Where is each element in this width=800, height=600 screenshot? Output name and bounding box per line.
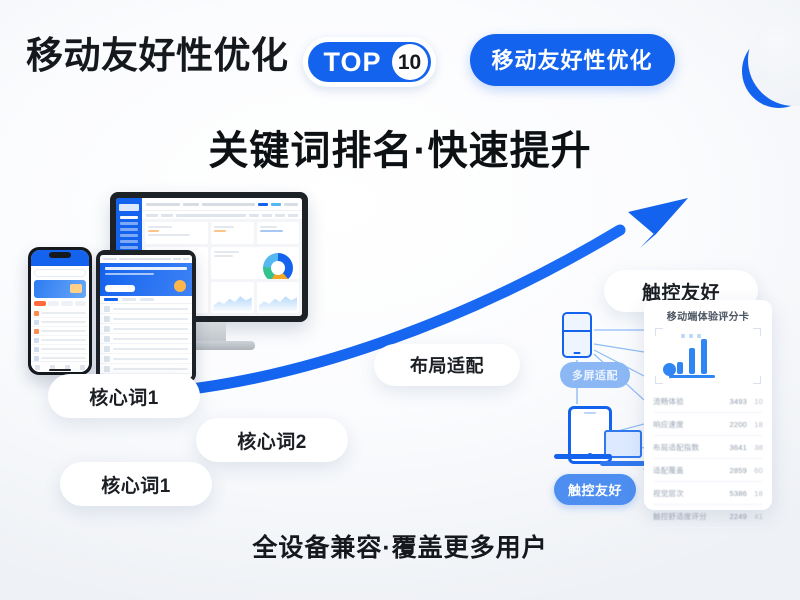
dashboard-nav-item [120,228,138,231]
phone-banner [34,280,86,298]
keyword-pill-2: 核心词2 [196,418,348,462]
list-item [100,304,192,314]
score-row-value: 2859 [721,466,747,475]
keyword-pill-3: 核心词1 [60,462,212,506]
score-row: 视觉层次538618 [653,482,763,505]
keyword-pill-1: 核心词1 [48,374,200,418]
tablet-statusbar [100,255,192,263]
score-row-value: 3641 [721,443,747,452]
score-row-name: 布局适配指数 [653,442,721,453]
dashboard-card [211,222,253,244]
score-card-title: 移动端体验评分卡 [653,308,763,323]
score-row-delta: 60 [747,466,763,475]
search-input[interactable] [34,269,86,277]
location-pin-icon [663,363,676,376]
tablet-screen [100,255,192,378]
score-row-value: 5386 [721,489,747,498]
tablet-hero-banner [100,263,192,296]
layout-adaptation-pill: 布局适配 [374,344,520,386]
top-badge-inner: TOP 10 [308,42,431,82]
phone-filter-chips[interactable] [31,301,89,309]
device-diagram-panel: 多屏适配 触控友好 移动端体验评分卡 流畅体验349310响应速度220018布… [548,300,772,516]
list-item [100,314,192,324]
bottom-caption: 全设备兼容·覆盖更多用户 [0,528,800,564]
score-row-value: 3493 [721,397,747,406]
poster-canvas: 移动友好性优化 TOP 10 移动友好性优化 关键词排名·快速提升 [0,0,800,600]
score-row-delta: 38 [747,443,763,452]
list-item [31,336,89,345]
page-subtitle: 关键词排名·快速提升 [0,118,800,176]
dashboard-nav-item [120,222,138,225]
score-row: 适配覆盖285960 [653,459,763,482]
phone-mockup [28,247,92,375]
phone-screen [31,250,89,372]
list-item [100,344,192,354]
phone-bezel [28,247,92,375]
list-item [31,327,89,336]
dashboard-logo [119,204,139,211]
score-row-delta: 18 [747,420,763,429]
dashboard-card [145,222,208,244]
list-item [31,309,89,318]
donut-chart-icon [263,253,293,279]
dashboard-nav-item [120,234,138,237]
tablet-tabbar [100,296,192,304]
tablet-cta-button [105,285,135,292]
phone-dynamic-island [49,252,71,258]
dashboard-card [257,222,299,244]
device-mockup-group [28,192,338,382]
score-row-name: 适配覆盖 [653,465,721,476]
list-item [100,334,192,344]
tablet-bezel [96,250,196,383]
score-row-name: 响应速度 [653,419,721,430]
dashboard-nav-item [120,246,138,249]
score-row-value: 2249 [721,512,747,521]
dashboard-toolbar [142,210,302,219]
diagram-multiscreen-pill: 多屏适配 [560,362,630,388]
score-row-name: 视觉层次 [653,488,721,499]
tablet-badge-icon [174,280,186,292]
diagram-touch-pill: 触控友好 [554,474,636,505]
score-row-name: 流畅体验 [653,396,721,407]
list-item [100,364,192,374]
page-title: 移动友好性优化 [26,37,289,74]
dashboard-area-card [257,282,299,314]
dashboard-nav-item [120,240,138,243]
score-row: 布局适配指数364138 [653,436,763,459]
top-rank-badge: TOP 10 [303,37,436,87]
list-item [100,354,192,364]
list-item [31,318,89,327]
chart-bars-icon [677,334,707,374]
top-badge-number: 10 [392,44,428,80]
score-row-name: 触控舒适度评分 [653,511,721,522]
diagram-phone-icon [562,312,592,358]
score-card-chart [655,328,761,384]
area-chart-icon [213,292,251,311]
score-row: 响应速度220018 [653,413,763,436]
mobile-score-card: 移动端体验评分卡 流畅体验349310响应速度220018布局适配指数36413… [644,300,772,510]
score-row-delta: 41 [747,512,763,521]
top-badge-label: TOP [324,49,392,76]
dashboard-donut-card [211,247,299,279]
list-item [100,324,192,334]
diagram-tablet-stand [554,454,612,459]
diagram-laptop-icon [600,430,646,466]
phone-home-indicator [49,369,71,371]
score-row: 流畅体验349310 [653,390,763,413]
area-chart-icon [259,292,297,311]
dashboard-area-card [211,282,253,314]
score-row-value: 2200 [721,420,747,429]
score-row: 触控舒适度评分224941 [653,505,763,528]
score-row-list: 流畅体验349310响应速度220018布局适配指数364138适配覆盖2859… [653,390,763,528]
score-row-delta: 18 [747,489,763,498]
headline-row: 移动友好性优化 TOP 10 移动友好性优化 [26,24,782,86]
score-row-delta: 10 [747,397,763,406]
list-item [31,345,89,354]
header-blue-pill: 移动友好性优化 [470,34,675,86]
dashboard-nav-item [120,216,138,219]
dashboard-topbar [142,198,302,210]
tablet-mockup [96,250,196,383]
